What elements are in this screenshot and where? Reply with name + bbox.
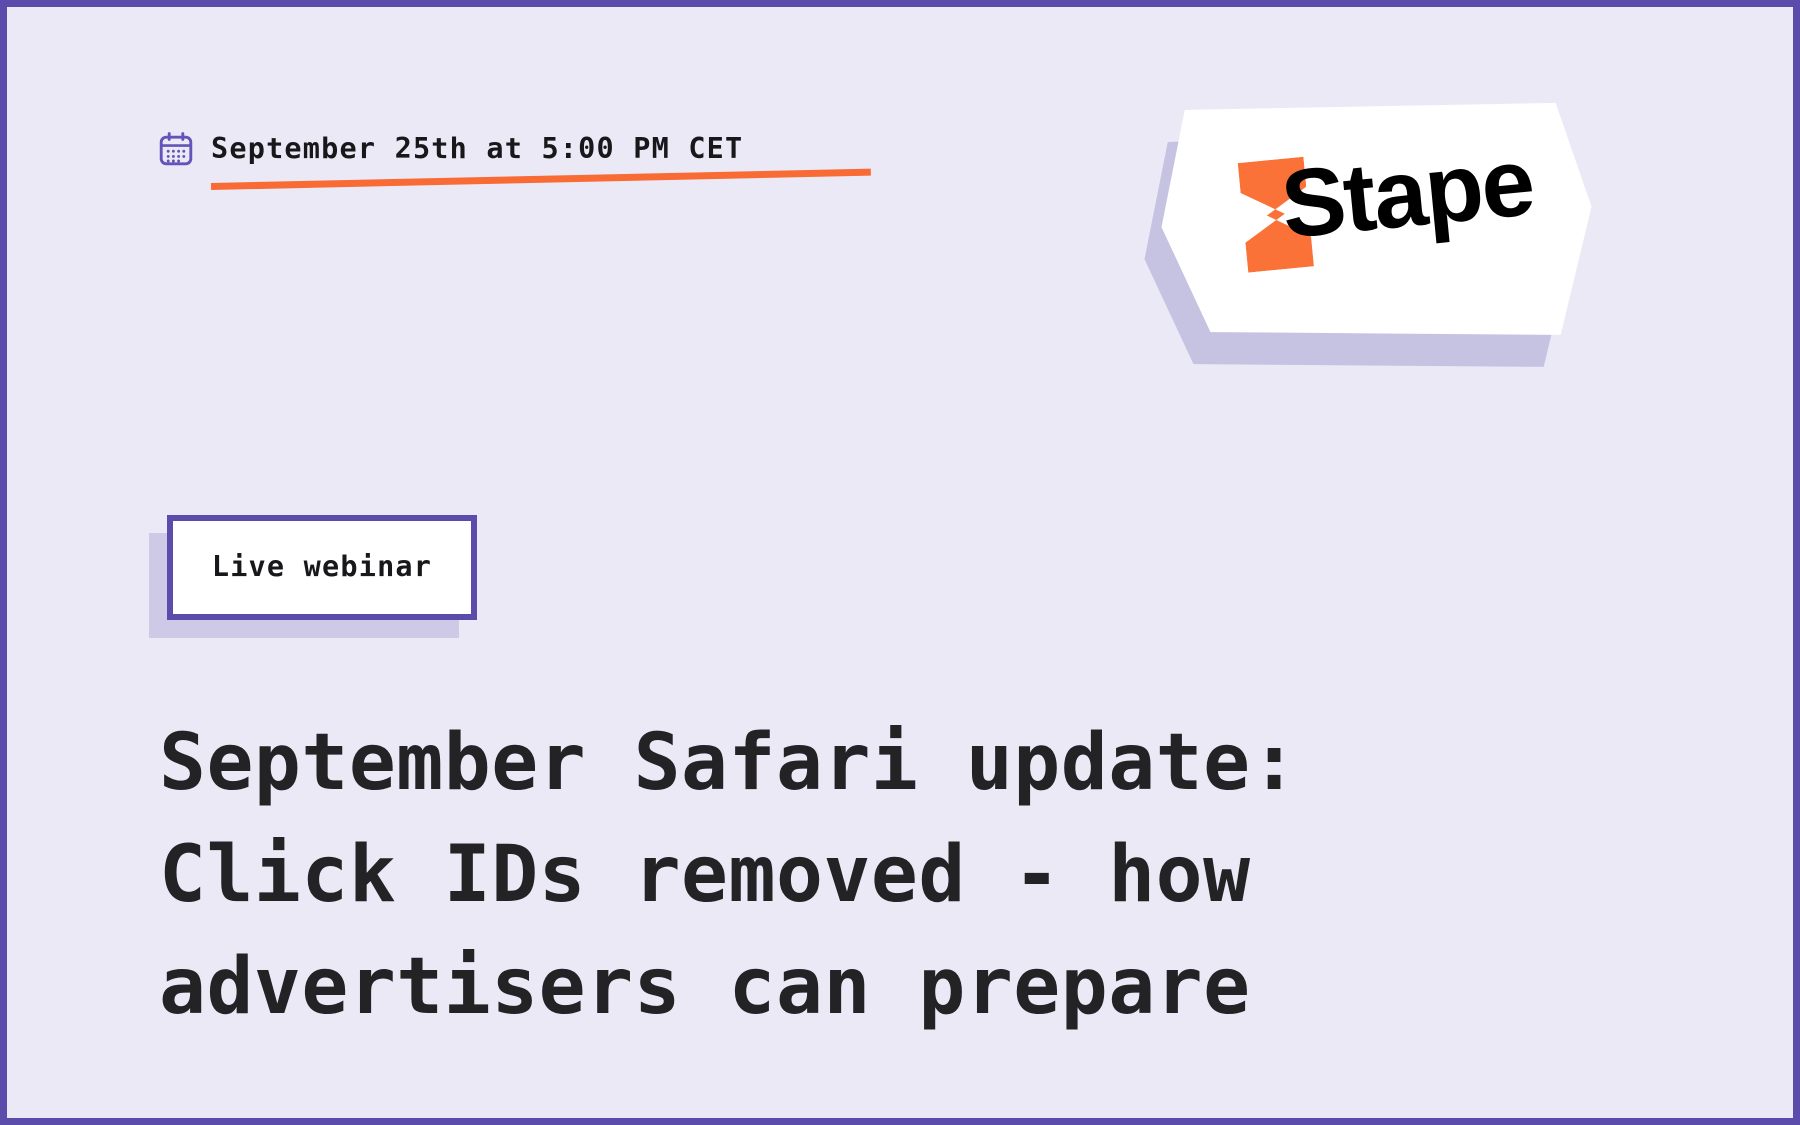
headline-line-1: September Safari update: [159,707,1499,819]
stape-wordmark: Stape [1277,134,1536,254]
live-webinar-badge: Live webinar [167,515,477,620]
stape-logo: Stape [1162,92,1682,412]
promo-banner: September 25th at 5:00 PM CET Stape Live… [0,0,1800,1125]
badge-box: Live webinar [167,515,477,620]
badge-label: Live webinar [212,553,432,582]
headline-line-2: Click IDs removed - how [159,819,1499,931]
headline: September Safari update: Click IDs remov… [159,707,1499,1043]
headline-line-3: advertisers can prepare [159,931,1499,1043]
event-date-text: September 25th at 5:00 PM CET [211,135,743,164]
calendar-icon [159,132,193,166]
date-underline-accent [211,169,871,190]
logo-content: Stape [1151,72,1604,372]
event-date-row: September 25th at 5:00 PM CET [159,132,743,166]
